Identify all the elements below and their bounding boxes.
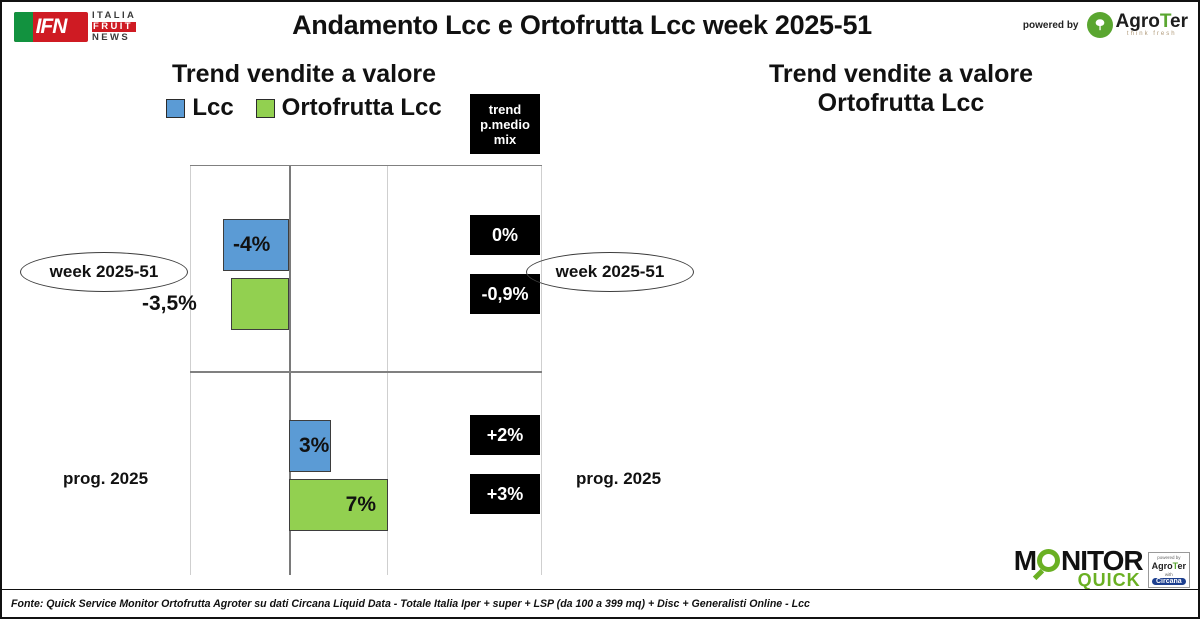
legend-swatch-lcc: [166, 99, 185, 118]
trend-header-line3: mix: [494, 132, 516, 147]
bar-ortofrutta-prog: 7%: [289, 479, 388, 531]
monitor-with-label: with: [1165, 572, 1173, 577]
tree-icon: [1087, 12, 1113, 38]
trend-header-line1: trend: [489, 102, 522, 117]
monitor-quick-wordmark: M NITOR QUICK: [1014, 547, 1143, 591]
legend-item-lcc: Lcc: [166, 94, 233, 122]
period-label-prog-left: prog. 2025: [63, 469, 148, 489]
ifn-logo-mark: IFN: [14, 12, 88, 42]
period-label-week-left: week 2025-51: [20, 252, 188, 292]
magnifier-icon: [1037, 549, 1060, 572]
powered-by-block: powered by AgroTer think fresh: [1023, 12, 1188, 38]
bar-ortofrutta-week: [231, 278, 289, 330]
trend-pmedio-mix-header: trend p.medio mix: [470, 94, 540, 154]
legend-swatch-ortofrutta-lcc: [256, 99, 275, 118]
legend-label-lcc: Lcc: [192, 94, 233, 122]
left-chart-title: Trend vendite a valore: [4, 60, 604, 89]
header-bar: IFN ITALIA FRUIT NEWS Andamento Lcc e Or…: [2, 2, 1198, 58]
bar-value-ortofrutta-prog: 7%: [346, 493, 376, 517]
bar-lcc-prog: 3%: [289, 420, 331, 472]
legend-label-ortofrutta-lcc: Ortofrutta Lcc: [282, 94, 442, 122]
ifn-logo-line-italia: ITALIA: [92, 11, 136, 21]
group-separator-line: [190, 371, 542, 373]
legend-item-ortofrutta-lcc: Ortofrutta Lcc: [256, 94, 442, 122]
period-label-prog-right: prog. 2025: [576, 469, 661, 489]
monitor-brand-label: AgroTer: [1152, 561, 1186, 571]
ifn-logo-line-fruit: FRUIT: [92, 22, 136, 32]
footer-bar: Fonte: Quick Service Monitor Ortofrutta …: [2, 589, 1198, 617]
monitor-powered-label: powered by: [1157, 555, 1180, 560]
source-note: Fonte: Quick Service Monitor Ortofrutta …: [2, 598, 810, 610]
ifn-logo: IFN ITALIA FRUIT NEWS: [14, 11, 136, 43]
period-label-week-right: week 2025-51: [526, 252, 694, 292]
trend-header-line2: p.medio: [480, 117, 530, 132]
right-chart-title-line1: Trend vendite a valore: [604, 60, 1198, 89]
agroter-logo: AgroTer think fresh: [1087, 12, 1189, 38]
monitor-text-m: M: [1014, 547, 1036, 574]
slide-canvas: IFN ITALIA FRUIT NEWS Andamento Lcc e Or…: [0, 0, 1200, 619]
right-chart-panel: Trend vendite a valore Ortofrutta Lcc Ip…: [604, 60, 1198, 580]
ifn-logo-initials: IFN: [14, 12, 88, 42]
left-chart-panel: Trend vendite a valore Lcc Ortofrutta Lc…: [4, 60, 604, 580]
right-chart-title-line2: Ortofrutta Lcc: [604, 89, 1198, 118]
bar-value-ortofrutta-week: -3,5%: [142, 291, 197, 317]
page-title: Andamento Lcc e Ortofrutta Lcc week 2025…: [202, 10, 962, 41]
bar-value-lcc-week: -4%: [233, 233, 270, 257]
trend-box-lcc-week: 0%: [470, 215, 540, 255]
trend-box-ortofrutta-prog: +3%: [470, 474, 540, 514]
agroter-wordmark: AgroTer: [1116, 13, 1189, 31]
trend-box-lcc-prog: +2%: [470, 415, 540, 455]
trend-box-ortofrutta-week: -0,9%: [470, 274, 540, 314]
ifn-logo-line-news: NEWS: [92, 33, 136, 43]
bar-lcc-week: -4%: [223, 219, 289, 271]
monitor-quick-logo: M NITOR QUICK powered by AgroTer with Ci…: [1014, 547, 1190, 591]
bar-value-lcc-prog: 3%: [299, 434, 329, 458]
monitor-partner-box: powered by AgroTer with Circana: [1148, 552, 1190, 588]
powered-by-label: powered by: [1023, 20, 1079, 31]
monitor-partner-label: Circana: [1152, 578, 1186, 585]
ifn-logo-wordmark: ITALIA FRUIT NEWS: [92, 11, 136, 43]
